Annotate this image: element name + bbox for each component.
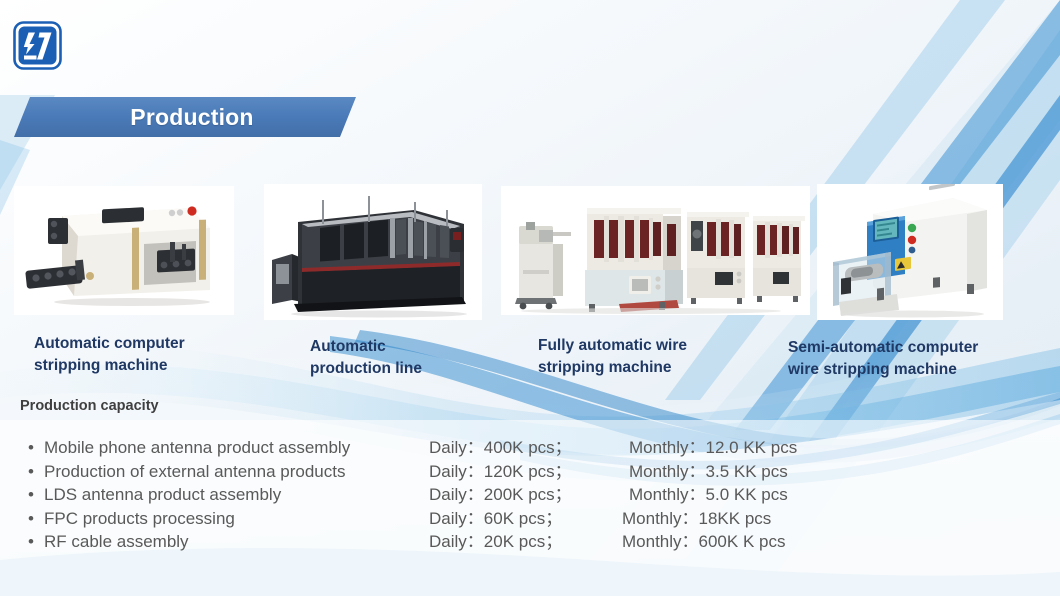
capacity-monthly-value: Monthly：18KK pcs [622,509,771,530]
capacity-row: • FPC products processing Daily：60K pcs；… [18,509,848,533]
list-bullet-icon: • [18,486,44,503]
capacity-daily-value: Daily：20K pcs； [429,532,622,553]
section-title-banner: Production [14,97,356,137]
company-logo-icon [13,21,62,70]
capacity-monthly-value: Monthly：12.0 KK pcs [629,438,797,459]
caption-fully-automatic-wire-stripping-machine: Fully automatic wire stripping machine [538,335,768,379]
list-bullet-icon: • [18,510,44,527]
capacity-daily-value: Daily：400K pcs； [429,438,629,459]
capacity-item-label: LDS antenna product assembly [44,485,429,506]
capacity-monthly-value: Monthly：600K K pcs [622,532,785,553]
fully-automatic-wire-stripping-machine-photo [501,186,810,315]
slide-canvas: Production [0,0,1060,596]
list-bullet-icon: • [18,463,44,480]
capacity-daily-value: Daily：60K pcs； [429,509,622,530]
capacity-row: • Mobile phone antenna product assembly … [18,438,848,462]
caption-automatic-computer-stripping-machine: Automatic computer stripping machine [34,333,264,377]
list-bullet-icon: • [18,439,44,456]
caption-semi-automatic-computer-wire-stripping-machine: Semi-automatic computer wire stripping m… [788,337,1038,381]
capacity-item-label: Mobile phone antenna product assembly [44,438,429,459]
capacity-row: • RF cable assembly Daily：20K pcs； Month… [18,532,848,556]
capacity-daily-value: Daily：200K pcs； [429,485,629,506]
capacity-item-label: RF cable assembly [44,532,429,553]
automatic-computer-stripping-machine-photo [14,186,234,315]
automatic-production-line-photo [264,184,482,320]
list-bullet-icon: • [18,533,44,550]
capacity-daily-value: Daily：120K pcs； [429,462,629,483]
capacity-row: • LDS antenna product assembly Daily：200… [18,485,848,509]
production-capacity-heading: Production capacity [20,398,159,414]
capacity-monthly-value: Monthly：3.5 KK pcs [629,462,788,483]
capacity-item-label: Production of external antenna products [44,462,429,483]
capacity-monthly-value: Monthly：5.0 KK pcs [629,485,788,506]
capacity-item-label: FPC products processing [44,509,429,530]
semi-automatic-computer-wire-stripping-machine-photo [817,184,1003,320]
caption-automatic-production-line: Automatic production line [310,336,520,380]
production-capacity-table: • Mobile phone antenna product assembly … [18,438,848,556]
capacity-row: • Production of external antenna product… [18,462,848,486]
page-title: Production [14,97,356,137]
